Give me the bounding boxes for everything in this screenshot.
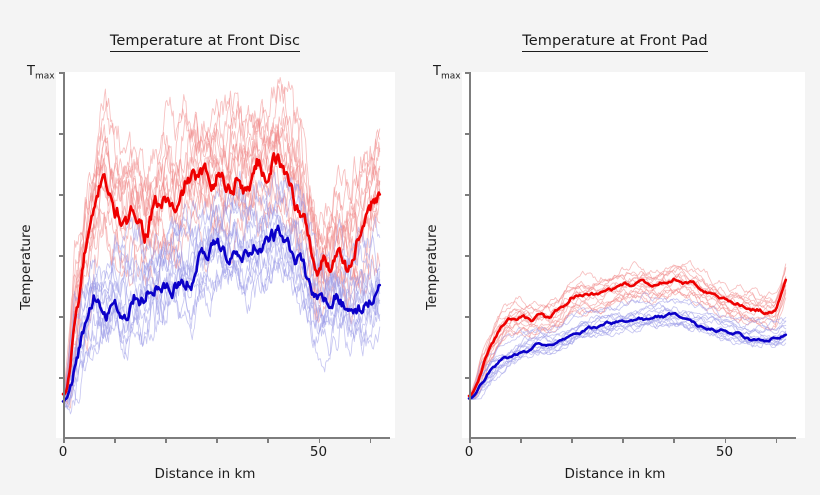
x-tick: [469, 438, 471, 443]
x-tick: [776, 438, 778, 443]
x-tick-label: 0: [449, 444, 489, 460]
y-tick: [465, 194, 470, 196]
x-axis-title-left: Distance in km: [0, 466, 410, 482]
x-tick: [673, 438, 675, 443]
x-tick: [622, 438, 624, 443]
x-tick-label: 0: [43, 444, 83, 460]
x-tick: [370, 438, 372, 443]
x-tick: [63, 438, 65, 443]
x-tick: [571, 438, 573, 443]
chart-svg-front-pad: [410, 0, 820, 495]
y-tick: [59, 316, 64, 318]
trace-line-red: [469, 274, 786, 396]
y-tick: [465, 72, 470, 74]
y-tick: [59, 72, 64, 74]
x-tick-label: 50: [299, 444, 339, 460]
x-tick: [165, 438, 167, 443]
x-tick: [520, 438, 522, 443]
trace-line-red: [469, 274, 786, 396]
y-tick: [59, 377, 64, 379]
x-tick: [725, 438, 727, 443]
x-axis-line-right: [469, 437, 796, 439]
x-tick: [319, 438, 321, 443]
x-tick: [216, 438, 218, 443]
x-tick-label: 50: [705, 444, 745, 460]
panel-front-pad: Temperature at Front Pad Tmax Temperatur…: [410, 0, 820, 495]
x-tick: [267, 438, 269, 443]
x-tick: [114, 438, 116, 443]
y-tick: [59, 133, 64, 135]
chart-svg-front-disc: [0, 0, 410, 495]
y-tick: [465, 255, 470, 257]
x-axis-title-right: Distance in km: [410, 466, 820, 482]
figure-root: Temperature at Front Disc Tmax Temperatu…: [0, 0, 820, 495]
panel-front-disc: Temperature at Front Disc Tmax Temperatu…: [0, 0, 410, 495]
y-tick: [465, 133, 470, 135]
y-tick: [465, 377, 470, 379]
x-axis-line-left: [63, 437, 390, 439]
y-tick: [59, 255, 64, 257]
y-tick: [465, 316, 470, 318]
y-tick: [59, 194, 64, 196]
